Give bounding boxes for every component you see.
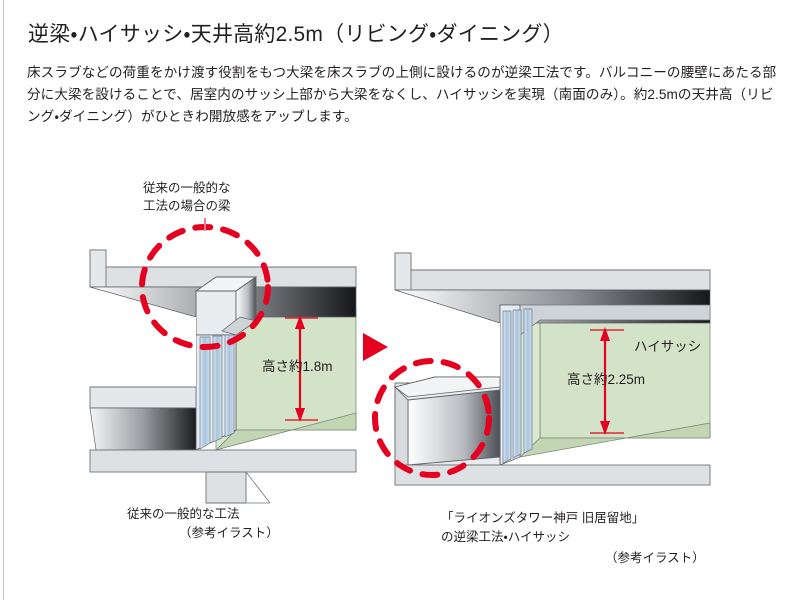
page-root: 逆梁・ハイサッシ・天井高約2.5m（リビング・ダイニング） 床スラブなどの荷重を… [0, 0, 800, 600]
caption-right-sub: （参考イラスト） [605, 549, 705, 568]
page-title: 逆梁・ハイサッシ・天井高約2.5m（リビング・ダイニング） [28, 22, 564, 48]
high-sash-label: ハイサッシ [634, 335, 701, 355]
body-text: 床スラブなどの荷重をかけ渡す役割をもつ大梁を床スラブの上側に設けるのが逆梁工法で… [27, 62, 779, 128]
callout-line-1: 従来の一般的な [143, 181, 231, 195]
caption-left-sub: （参考イラスト） [179, 524, 279, 543]
callout-line-2: 工法の場合の梁 [143, 199, 231, 213]
caption-right-line-1: 「ライオンズタワー神戸 旧居留地」 [441, 511, 644, 525]
caption-left-main: 従来の一般的な工法 [127, 507, 240, 521]
caption-right: 「ライオンズタワー神戸 旧居留地」 の逆梁工法・ハイサッシ （参考イラスト） [441, 509, 705, 567]
caption-right-line-2: の逆梁工法・ハイサッシ [441, 530, 570, 544]
right-diagram-inverted-beam [375, 253, 710, 485]
callout-conventional-beam: 従来の一般的な 工法の場合の梁 [143, 179, 231, 215]
right-triangle-arrow-icon [363, 333, 388, 361]
figure-illustration: 従来の一般的な 工法の場合の梁 高さ約1.8m ハイサッシ 高さ約2.25m 従… [0, 165, 800, 585]
dimension-label-left: 高さ約1.8m [262, 355, 333, 375]
dimension-label-right: 高さ約2.25m [567, 368, 645, 388]
caption-left: 従来の一般的な工法 （参考イラスト） [127, 505, 279, 543]
body-paragraph: 床スラブなどの荷重をかけ渡す役割をもつ大梁を床スラブの上側に設けるのが逆梁工法で… [27, 62, 779, 128]
